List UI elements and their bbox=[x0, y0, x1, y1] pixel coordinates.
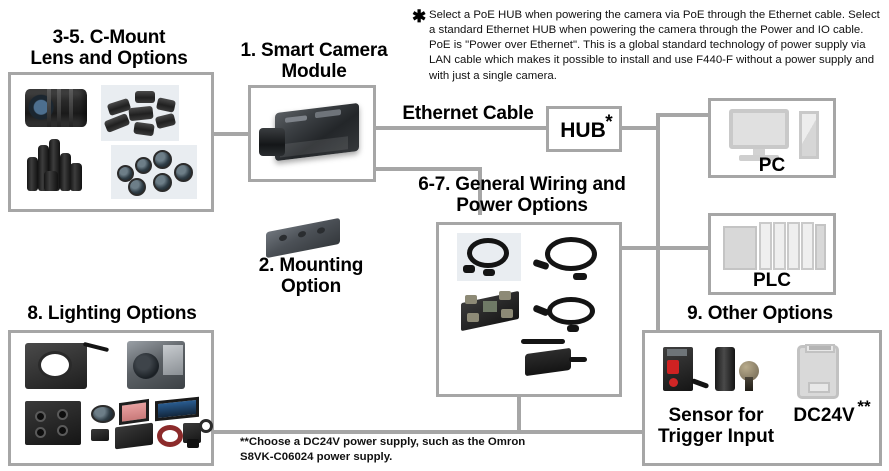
diagram-canvas: ✱ Select a PoE HUB when powering the cam… bbox=[0, 0, 889, 471]
connector-camera-to-wiring-h bbox=[374, 167, 482, 171]
smart-camera-box[interactable] bbox=[248, 85, 376, 182]
poe-note-text: Select a PoE HUB when powering the camer… bbox=[429, 8, 887, 84]
sensor-label-line2: Trigger Input bbox=[658, 426, 774, 447]
sensor-cable bbox=[691, 378, 710, 389]
cmount-heading-line2: Lens and Options bbox=[30, 48, 187, 69]
plc-module-2 bbox=[773, 222, 786, 270]
ethernet-cable-label: Ethernet Cable bbox=[392, 103, 544, 124]
wiring-heading-line2: Power Options bbox=[456, 195, 587, 216]
smart-camera-heading-line1: 1. Smart Camera bbox=[241, 40, 388, 61]
plc-module-4 bbox=[801, 222, 814, 270]
pc-tower-icon bbox=[799, 111, 819, 159]
wiring-options-box[interactable] bbox=[436, 222, 622, 397]
mounting-heading: 2. Mounting Option bbox=[236, 255, 386, 298]
photoelectric-sensor-photo bbox=[663, 347, 693, 391]
smart-camera-photo bbox=[275, 103, 359, 161]
pc-box[interactable]: PC bbox=[708, 98, 836, 178]
mounting-plate-photo bbox=[266, 218, 340, 258]
red-ring-light-photo bbox=[157, 425, 183, 447]
smart-camera-heading-line2: Module bbox=[281, 61, 346, 82]
filter-set-photo bbox=[111, 145, 197, 199]
polarizing-filter-photo bbox=[91, 405, 115, 423]
coaxial-light-photo bbox=[127, 341, 185, 389]
mounting-heading-line2: Option bbox=[281, 276, 341, 297]
plc-end-unit-icon bbox=[815, 224, 826, 270]
spot-light-photo bbox=[183, 419, 213, 449]
bar-light-photo bbox=[115, 423, 153, 450]
ring-light-photo bbox=[25, 343, 87, 389]
hub-box[interactable]: HUB * bbox=[546, 106, 622, 152]
camera-lens-barrel bbox=[259, 128, 285, 156]
cmount-options-box[interactable] bbox=[8, 72, 214, 212]
plc-module-1 bbox=[759, 222, 772, 270]
light-controller-photo bbox=[25, 401, 81, 445]
cmount-heading-line1: 3-5. C-Mount bbox=[53, 27, 166, 48]
small-connector-photo bbox=[91, 429, 109, 441]
pc-monitor-icon bbox=[729, 109, 789, 149]
dc24v-note-text: **Choose a DC24V power supply, such as t… bbox=[240, 435, 540, 465]
extension-tubes-photo bbox=[25, 137, 87, 195]
other-options-heading: 9. Other Options bbox=[640, 303, 880, 324]
lighting-heading: 8. Lighting Options bbox=[8, 303, 216, 324]
connector-hub-to-bus bbox=[622, 126, 660, 130]
io-cable-photo bbox=[533, 295, 603, 339]
blue-bar-light-photo bbox=[155, 397, 199, 422]
hub-asterisk-icon: * bbox=[601, 112, 617, 133]
wiring-heading: 6-7. General Wiring and Power Options bbox=[404, 174, 640, 217]
red-dome-light-photo bbox=[119, 399, 149, 425]
sensor-label-line1: Sensor for bbox=[668, 405, 763, 426]
cmount-heading: 3-5. C-Mount Lens and Options bbox=[6, 27, 212, 70]
ac-adapter-photo bbox=[517, 337, 591, 381]
dc24v-double-asterisk-icon: ** bbox=[851, 397, 877, 416]
mounting-heading-line1: 2. Mounting bbox=[259, 255, 363, 276]
other-options-box[interactable]: Sensor for Trigger Input DC24V ** bbox=[642, 330, 882, 466]
sensor-head-stem bbox=[745, 377, 753, 391]
plc-label: PLC bbox=[711, 270, 833, 291]
ethernet-cable-photo bbox=[457, 233, 521, 281]
smart-camera-heading: 1. Smart Camera Module bbox=[240, 40, 388, 83]
power-supply-photo bbox=[797, 345, 839, 399]
c-mount-lens-photo bbox=[25, 89, 87, 127]
pc-label: PC bbox=[711, 155, 833, 176]
poe-note-asterisk-icon: ✱ bbox=[412, 8, 426, 25]
connector-bus-to-pc bbox=[656, 113, 708, 117]
connector-camera-to-hub bbox=[374, 126, 546, 130]
proximity-sensor-photo bbox=[715, 347, 735, 391]
plc-power-unit-icon bbox=[723, 226, 757, 270]
wiring-heading-line1: 6-7. General Wiring and bbox=[418, 174, 625, 195]
terminal-block-photo bbox=[457, 289, 523, 331]
plc-module-3 bbox=[787, 222, 800, 270]
connector-bottom-bus bbox=[214, 430, 642, 434]
connector-wiring-to-right-h bbox=[622, 246, 712, 250]
poe-note: Select a PoE HUB when powering the camer… bbox=[429, 8, 887, 84]
sensor-trigger-label: Sensor for Trigger Input bbox=[651, 405, 781, 448]
power-io-cable-photo bbox=[533, 235, 605, 289]
connector-cmount-to-camera bbox=[212, 132, 252, 136]
plc-box[interactable]: PLC bbox=[708, 213, 836, 295]
lighting-options-box[interactable] bbox=[8, 330, 214, 466]
dc24v-note: **Choose a DC24V power supply, such as t… bbox=[240, 435, 540, 465]
lens-group-photo bbox=[101, 85, 179, 141]
connector-wiring-to-bottom-bus bbox=[517, 394, 521, 434]
